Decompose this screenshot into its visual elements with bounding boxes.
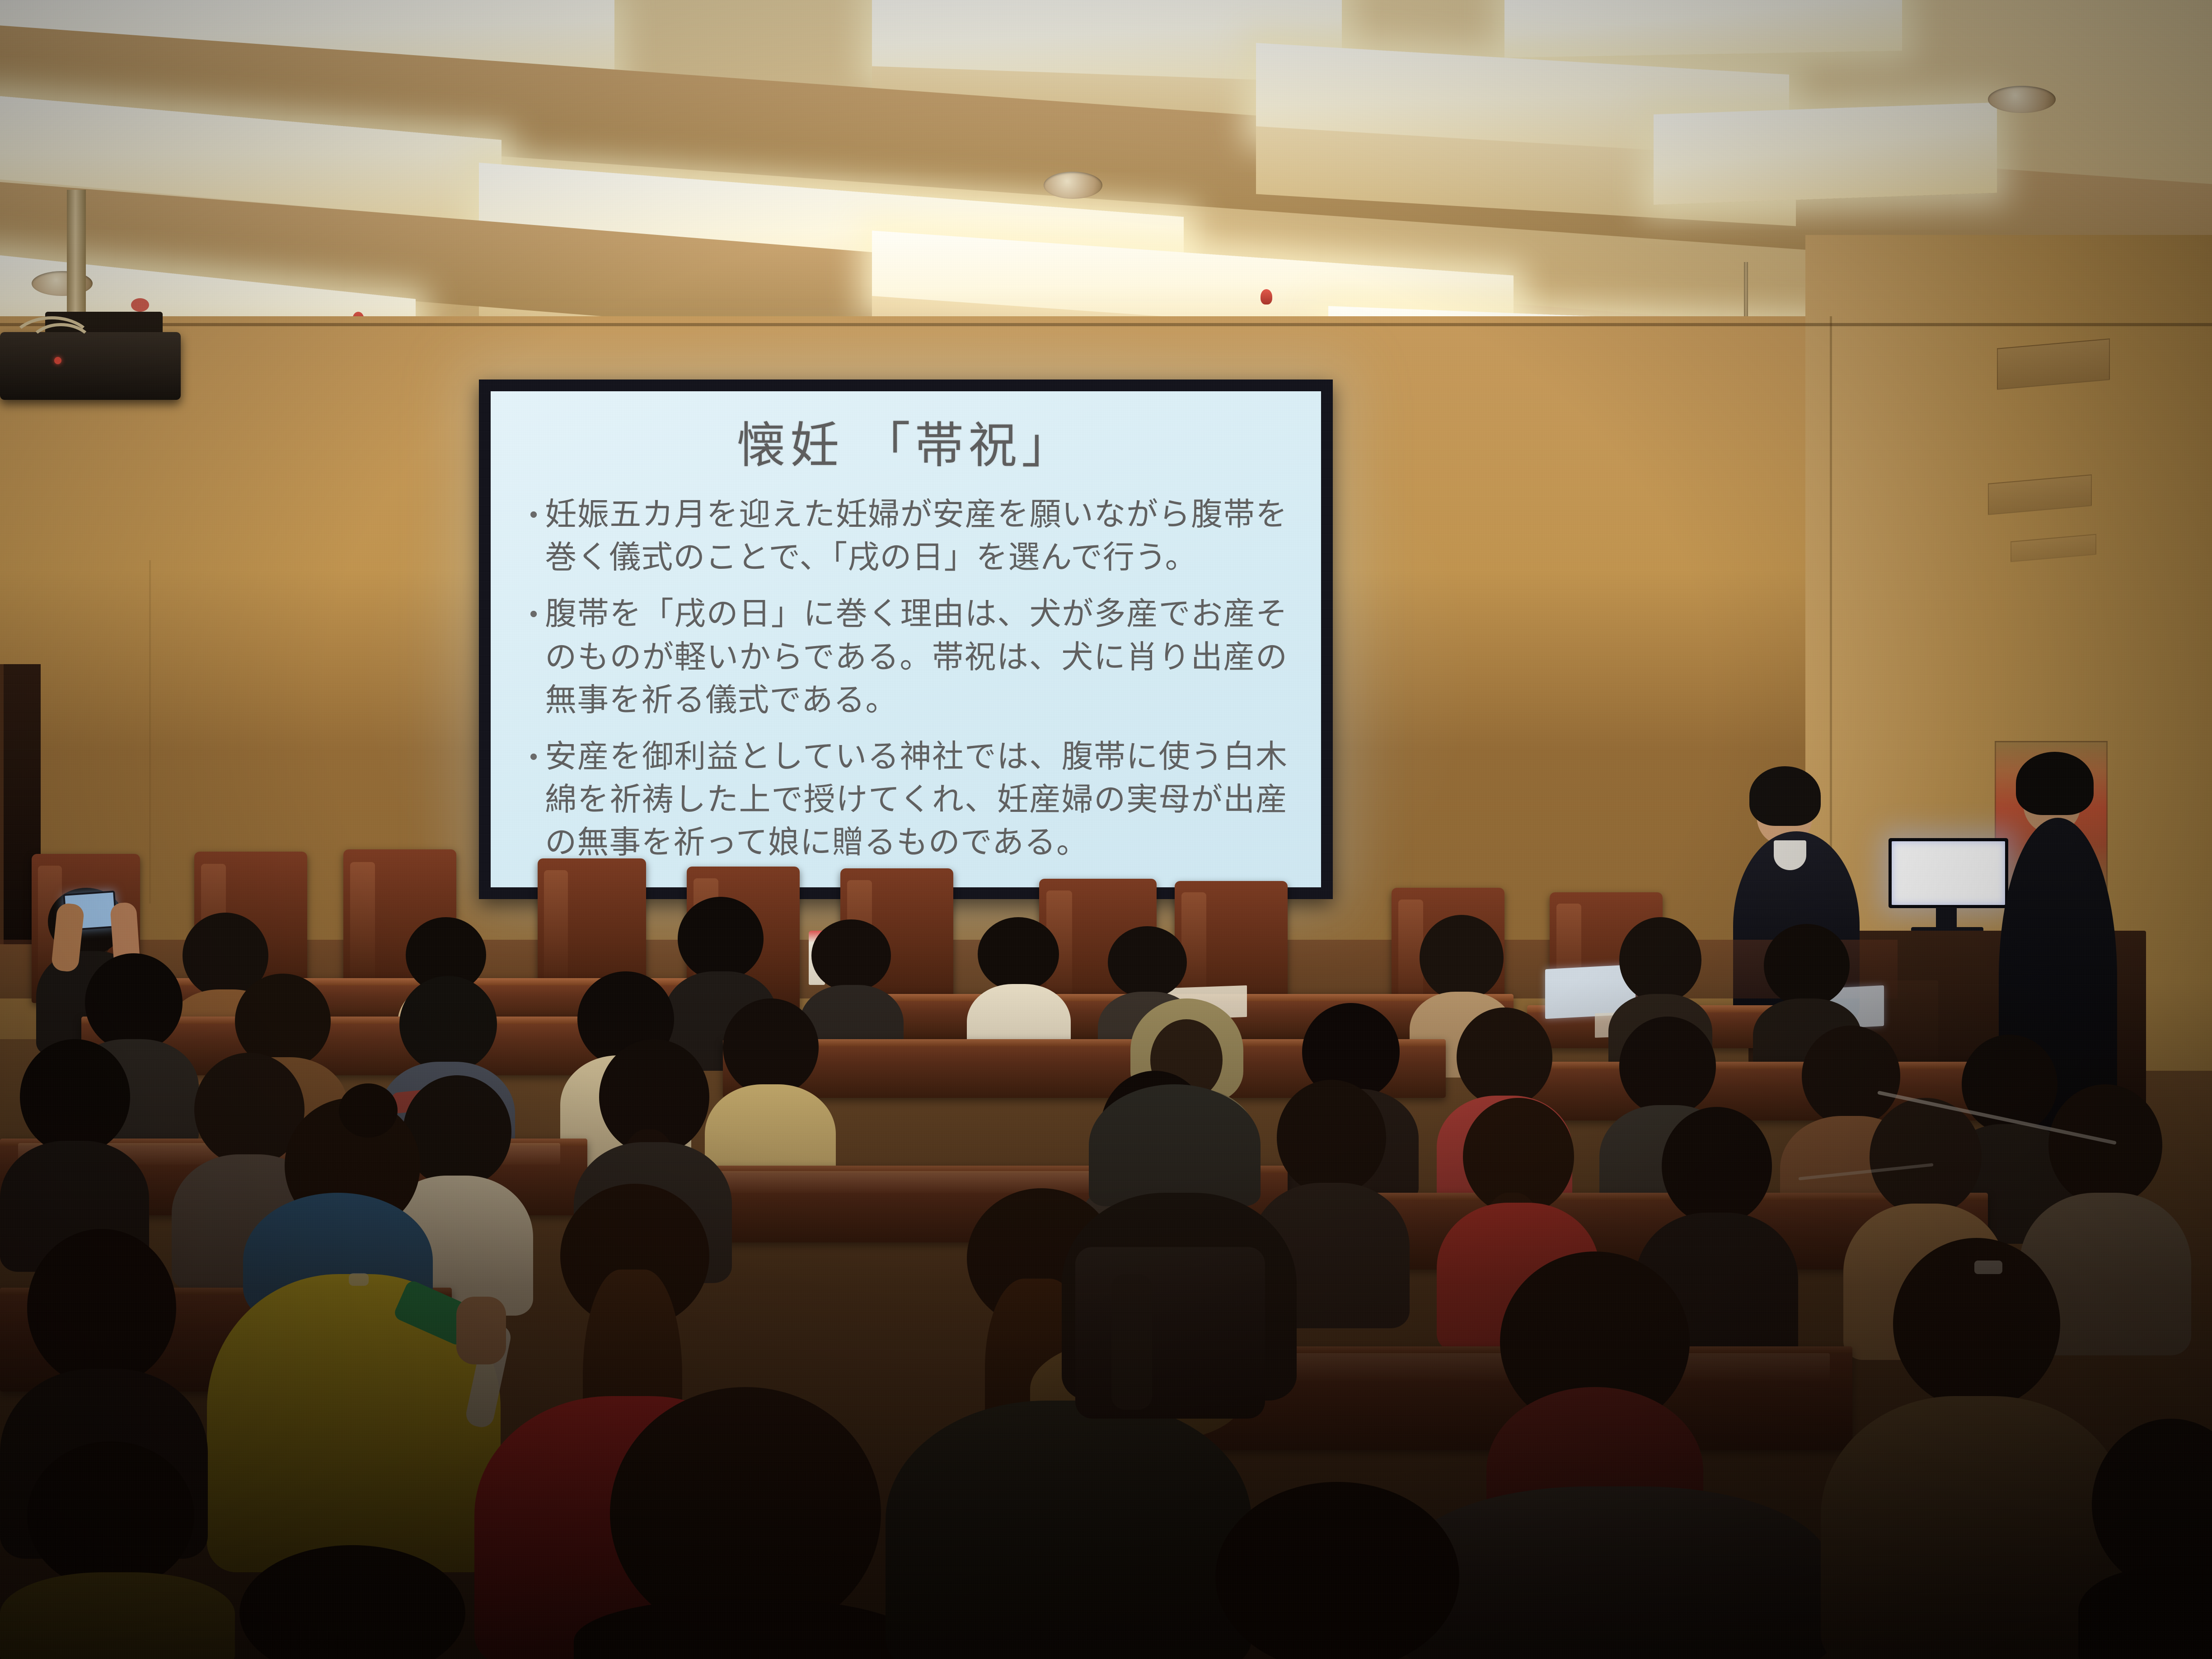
ceiling-light-panel (1654, 103, 1997, 205)
hair (27, 1441, 194, 1590)
doorway-frame (0, 664, 4, 944)
backpack (1075, 1247, 1265, 1419)
hair (1619, 1017, 1716, 1116)
slide-bullet-text: 安産を御利益としている神社では、腹帯に使う白木綿を祈祷した上で授けてくれ、妊産婦… (545, 735, 1288, 864)
hair (1870, 1098, 1982, 1216)
hair (1662, 1107, 1772, 1225)
slide-bullet-text: 腹帯を「戌の日」に巻く理由は、犬が多産でお産そのものが軽いからである。帯祝は、犬… (545, 592, 1288, 722)
slide-bullet-text: 妊娠五カ月を迎えた妊婦が安産を願いながら腹帯を巻く儀式のことで、「戌の日」を選ん… (545, 493, 1288, 579)
torso (2078, 1568, 2212, 1659)
hair (399, 976, 497, 1073)
slide-bullet-item: • 安産を御利益としている神社では、腹帯に使う白木綿を祈祷した上で授けてくれ、妊… (524, 735, 1288, 864)
lecture-hall-photo: 懐妊 「帯祝」 • 妊娠五カ月を迎えた妊婦が安産を願いながら腹帯を巻く儀式のこと… (0, 0, 2212, 1659)
slide-bullet-item: • 妊娠五カ月を迎えた妊婦が安産を願いながら腹帯を巻く儀式のことで、「戌の日」を… (524, 493, 1288, 579)
wall-seam (149, 560, 151, 904)
hair (1457, 1008, 1552, 1107)
hood-toggle-icon (349, 1273, 369, 1286)
audience-member (0, 1441, 235, 1659)
hair (1749, 766, 1821, 826)
hair (1215, 1482, 1459, 1659)
hair (2048, 1084, 2162, 1206)
hair (85, 953, 183, 1052)
audience-member (226, 1545, 479, 1659)
hair (1420, 915, 1504, 1001)
hair (1619, 917, 1701, 1003)
bullet-marker-icon: • (530, 602, 538, 626)
hair (723, 998, 819, 1096)
hair (27, 1229, 176, 1387)
projection-screen[interactable]: 懐妊 「帯祝」 • 妊娠五カ月を迎えた妊婦が安産を願いながら腹帯を巻く儀式のこと… (479, 380, 1333, 899)
cap (1089, 1084, 1261, 1206)
hair (2016, 752, 2094, 815)
hair (1764, 924, 1850, 1007)
ceiling-marker-red-dot (131, 298, 149, 312)
hair (2092, 1419, 2212, 1590)
wall-seam (0, 323, 2212, 326)
hair (20, 1039, 130, 1155)
audience-member (574, 1387, 917, 1659)
hair (978, 917, 1059, 991)
projected-slide: 懐妊 「帯祝」 • 妊娠五カ月を迎えた妊婦が安産を願いながら腹帯を巻く儀式のこと… (491, 391, 1321, 887)
hair (1108, 926, 1187, 998)
slide-bullet-list: • 妊娠五カ月を迎えた妊婦が安産を願いながら腹帯を巻く儀式のことで、「戌の日」を… (524, 493, 1288, 864)
torso (0, 1572, 235, 1659)
bullet-marker-icon: • (530, 745, 538, 769)
recessed-downlight-icon (1044, 172, 1102, 199)
hair-knot (339, 1083, 398, 1138)
backpack-strap (1111, 1274, 1152, 1410)
torso (886, 1401, 1251, 1659)
hair (678, 897, 764, 981)
projector-cable (27, 323, 95, 373)
ceiling-drop-rod (1744, 262, 1748, 321)
slide-bullet-item: • 腹帯を「戌の日」に巻く理由は、犬が多産でお産そのものが軽いからである。帯祝は… (524, 592, 1288, 722)
bullet-marker-icon: • (530, 503, 538, 526)
shirt-collar (1774, 840, 1806, 870)
hair (239, 1545, 465, 1659)
slide-title: 懐妊 「帯祝」 (524, 418, 1288, 473)
audience-member (2078, 1419, 2212, 1659)
audience-member (1197, 1482, 1477, 1659)
hair (811, 919, 891, 992)
torso (574, 1599, 917, 1659)
recessed-downlight-icon (1988, 86, 2056, 113)
ceiling-light-panel (1504, 0, 1902, 58)
hair-clip-icon (1974, 1261, 2002, 1274)
sprinkler-head-icon (1261, 289, 1272, 305)
